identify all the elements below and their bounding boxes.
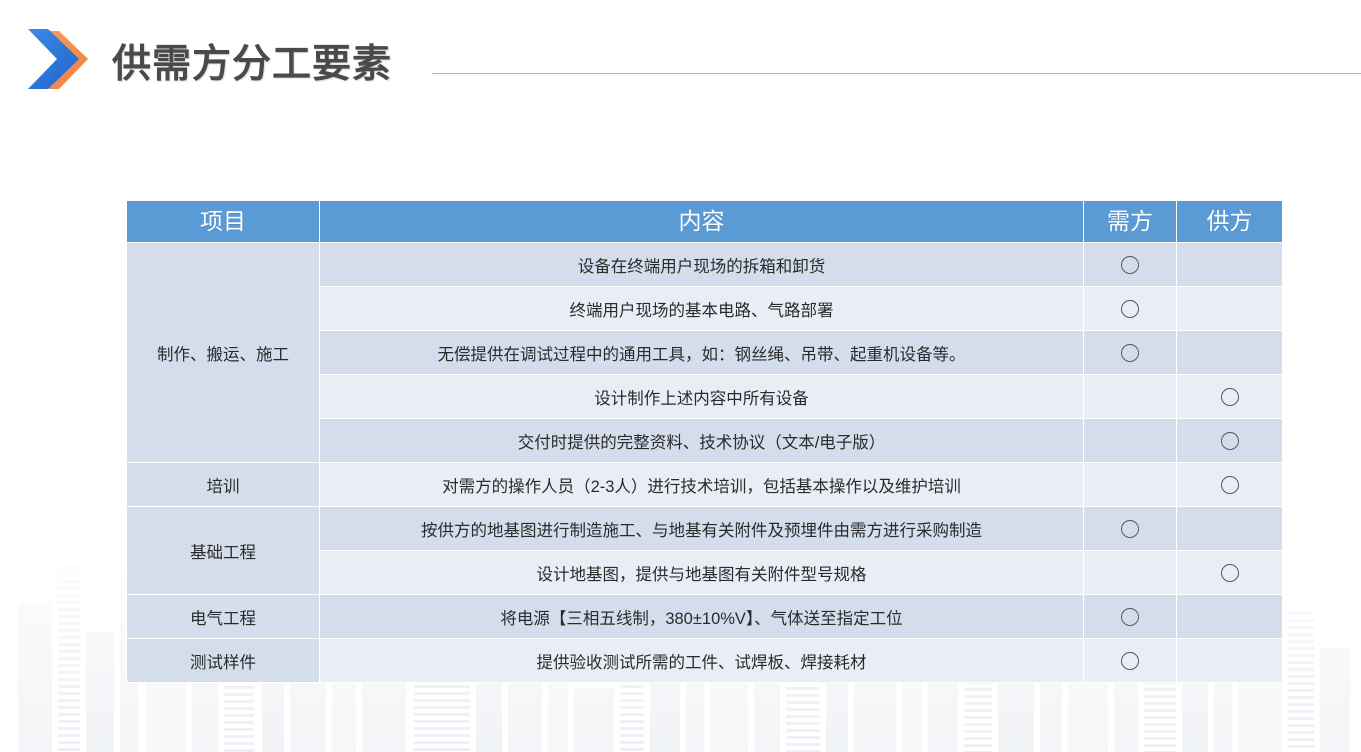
responsibility-mark-icon [1121,256,1139,274]
table-cell-item: 基础工程 [127,507,319,594]
responsibility-mark-icon [1121,652,1139,670]
table-cell-supply [1177,507,1282,550]
table-cell-demand [1084,243,1176,286]
table-cell-supply [1177,375,1282,418]
double-chevron-icon [26,27,104,93]
table-body: 制作、搬运、施工设备在终端用户现场的拆箱和卸货终端用户现场的基本电路、气路部署无… [127,243,1282,682]
table-cell-content: 终端用户现场的基本电路、气路部署 [320,287,1083,330]
slide-header: 供需方分工要素 [0,0,1361,120]
table-cell-content: 设计地基图，提供与地基图有关附件型号规格 [320,551,1083,594]
division-of-work-table: 项目 内容 需方 供方 制作、搬运、施工设备在终端用户现场的拆箱和卸货终端用户现… [126,200,1281,683]
table-cell-supply [1177,463,1282,506]
table-row: 培训对需方的操作人员（2-3人）进行技术培训，包括基本操作以及维护培训 [127,463,1282,506]
table-cell-supply [1177,243,1282,286]
column-header-demand: 需方 [1084,201,1176,242]
table-row: 测试样件提供验收测试所需的工件、试焊板、焊接耗材 [127,639,1282,682]
responsibility-mark-icon [1221,564,1239,582]
table-header-row: 项目 内容 需方 供方 [127,201,1282,242]
table-cell-supply [1177,551,1282,594]
table-cell-demand [1084,463,1176,506]
table-cell-item: 测试样件 [127,639,319,682]
table-cell-supply [1177,639,1282,682]
table-cell-demand [1084,595,1176,638]
responsibility-mark-icon [1121,608,1139,626]
table-cell-item: 电气工程 [127,595,319,638]
table-cell-content: 将电源【三相五线制，380±10%V】、气体送至指定工位 [320,595,1083,638]
table-cell-content: 提供验收测试所需的工件、试焊板、焊接耗材 [320,639,1083,682]
table-cell-content: 设计制作上述内容中所有设备 [320,375,1083,418]
table-row: 基础工程按供方的地基图进行制造施工、与地基有关附件及预埋件由需方进行采购制造 [127,507,1282,550]
table-cell-demand [1084,331,1176,374]
table-cell-demand [1084,639,1176,682]
table-cell-supply [1177,595,1282,638]
responsibility-mark-icon [1121,300,1139,318]
table-cell-supply [1177,419,1282,462]
table-cell-demand [1084,287,1176,330]
responsibility-mark-icon [1221,432,1239,450]
table-cell-supply [1177,331,1282,374]
column-header-supply: 供方 [1177,201,1282,242]
table-cell-item: 制作、搬运、施工 [127,243,319,462]
table-row: 电气工程将电源【三相五线制，380±10%V】、气体送至指定工位 [127,595,1282,638]
table-cell-demand [1084,419,1176,462]
responsibility-mark-icon [1121,520,1139,538]
table-cell-content: 交付时提供的完整资料、技术协议（文本/电子版） [320,419,1083,462]
column-header-item: 项目 [127,201,319,242]
table-cell-content: 设备在终端用户现场的拆箱和卸货 [320,243,1083,286]
title-divider [432,73,1361,74]
responsibility-mark-icon [1221,476,1239,494]
page-title: 供需方分工要素 [112,33,392,89]
column-header-content: 内容 [320,201,1083,242]
responsibility-mark-icon [1221,388,1239,406]
table-cell-content: 无偿提供在调试过程中的通用工具，如：钢丝绳、吊带、起重机设备等。 [320,331,1083,374]
table-cell-demand [1084,375,1176,418]
responsibility-mark-icon [1121,344,1139,362]
table-cell-demand [1084,551,1176,594]
table-cell-content: 对需方的操作人员（2-3人）进行技术培训，包括基本操作以及维护培训 [320,463,1083,506]
table-cell-item: 培训 [127,463,319,506]
table-cell-demand [1084,507,1176,550]
table-cell-content: 按供方的地基图进行制造施工、与地基有关附件及预埋件由需方进行采购制造 [320,507,1083,550]
table-cell-supply [1177,287,1282,330]
table-row: 制作、搬运、施工设备在终端用户现场的拆箱和卸货 [127,243,1282,286]
